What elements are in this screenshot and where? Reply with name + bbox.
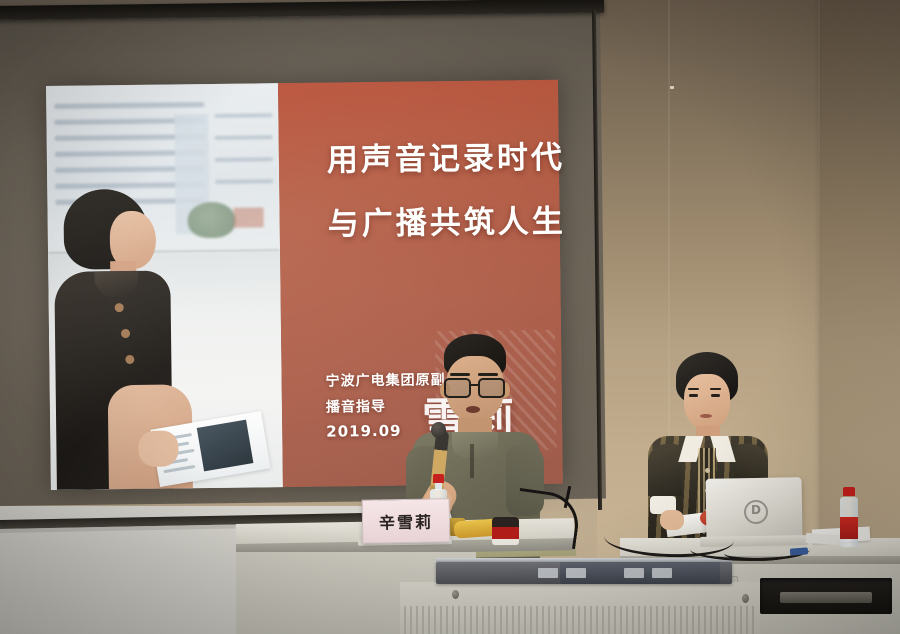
- water-bottle-right: [840, 487, 858, 547]
- eyeglasses-lens-right: [478, 378, 505, 398]
- cable-connector: [790, 547, 808, 555]
- tree-foliage: [187, 202, 235, 239]
- wall-shadow: [818, 0, 900, 560]
- av-console-vents: [404, 606, 756, 634]
- slide-title-line-1: 用声音记录时代: [327, 132, 566, 180]
- photo-woman-hand: [138, 430, 178, 466]
- slide-credit-line-3: 2019.09: [326, 422, 402, 441]
- lecture-hall-photo: 用声音记录时代 与广播共筑人生 宁波广电集团原副总编辑 播音指导 2019.09…: [0, 0, 900, 634]
- wall-speck: [670, 86, 674, 89]
- bottle-cap: [433, 474, 444, 483]
- crane: [234, 207, 264, 227]
- eyeglasses-bridge: [469, 384, 479, 386]
- cable: [724, 546, 794, 561]
- speaker-collar: [452, 432, 498, 458]
- speaker-mouth: [466, 406, 480, 413]
- slide-title-line-2: 与广播共筑人生: [327, 196, 566, 244]
- laptop-brand-letter: D: [751, 503, 758, 517]
- bottle-cap: [843, 487, 855, 496]
- name-placard: 辛雪莉: [362, 498, 451, 544]
- name-placard-text: 辛雪莉: [379, 509, 433, 534]
- presenter-shoulder-left: [648, 444, 682, 496]
- speaker-placket: [470, 444, 474, 478]
- presenter-mouth: [700, 414, 712, 418]
- slide-credit-line-2: 播音指导: [326, 396, 386, 417]
- podium-bay-device: [780, 592, 872, 603]
- eyeglasses-lens-left: [444, 378, 471, 398]
- slide-photo: [46, 83, 283, 490]
- presenter-face: [684, 374, 730, 430]
- bottle-label: [840, 517, 858, 539]
